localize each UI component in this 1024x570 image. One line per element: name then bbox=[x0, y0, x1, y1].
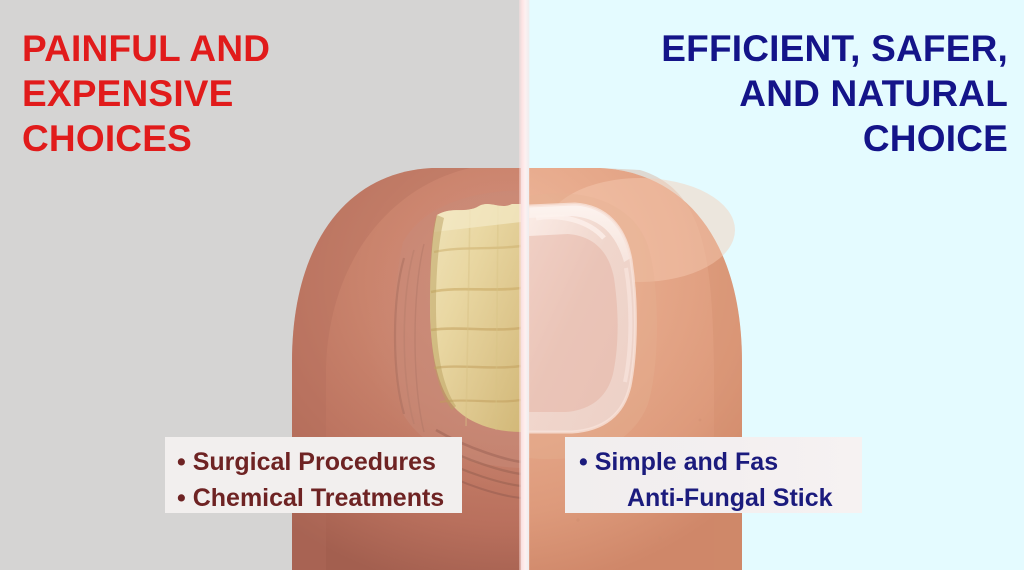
right-caption-box: • Simple and Fas Anti-Fungal Stick bbox=[565, 437, 862, 513]
left-title-line-3: CHOICES bbox=[22, 116, 442, 161]
right-title-line-2: AND NATURAL bbox=[558, 71, 1008, 116]
right-panel-title: EFFICIENT, SAFER, AND NATURAL CHOICE bbox=[558, 26, 1008, 161]
left-bullet-label-2: Chemical Treatments bbox=[193, 484, 445, 512]
right-title-line-3: CHOICE bbox=[558, 116, 1008, 161]
bullet-glyph: • bbox=[579, 444, 588, 480]
left-bullet-item-2: • Chemical Treatments bbox=[177, 480, 452, 516]
left-title-line-2: EXPENSIVE bbox=[22, 71, 442, 116]
right-bullet-label-1: Simple and Fas bbox=[595, 448, 778, 476]
left-panel-title: PAINFUL AND EXPENSIVE CHOICES bbox=[22, 26, 442, 161]
comparison-graphic: PAINFUL AND EXPENSIVE CHOICES EFFICIENT,… bbox=[0, 0, 1024, 570]
bullet-glyph: • bbox=[177, 480, 186, 516]
left-caption-box: • Surgical Procedures • Chemical Treatme… bbox=[165, 437, 462, 513]
left-bullet-label-1: Surgical Procedures bbox=[193, 448, 436, 476]
right-bullet-item-2: Anti-Fungal Stick bbox=[579, 480, 852, 516]
left-title-line-1: PAINFUL AND bbox=[22, 26, 442, 71]
bullet-glyph: • bbox=[177, 444, 186, 480]
right-title-line-1: EFFICIENT, SAFER, bbox=[558, 26, 1008, 71]
split-divider bbox=[519, 0, 530, 570]
right-bullet-item-1: • Simple and Fas bbox=[579, 444, 852, 480]
left-bullet-item-1: • Surgical Procedures bbox=[177, 444, 452, 480]
right-bullet-label-2: Anti-Fungal Stick bbox=[627, 484, 833, 512]
